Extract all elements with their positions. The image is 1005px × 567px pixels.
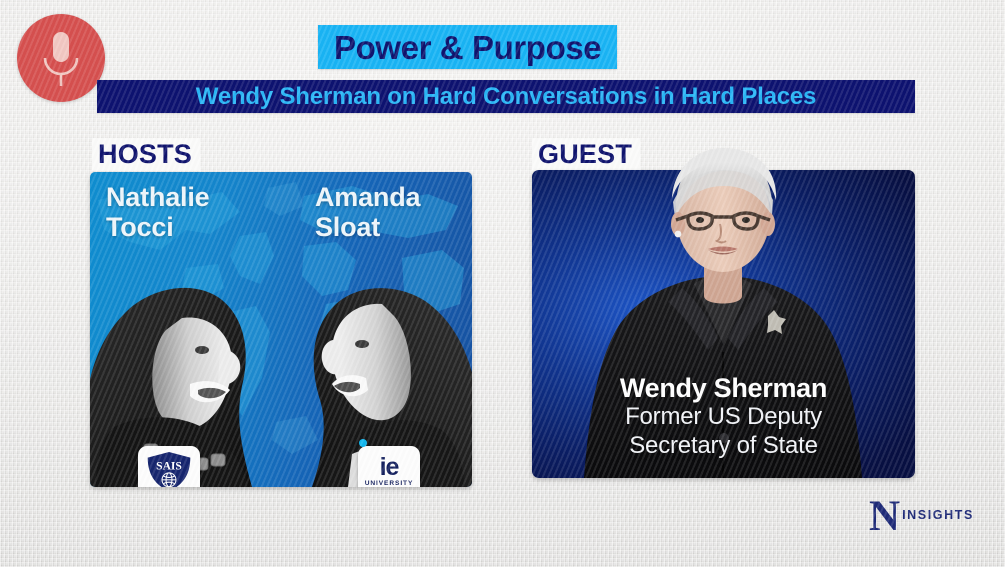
guest-section-label: GUEST (532, 138, 640, 171)
ie-logo-dot (359, 439, 367, 447)
microphone-icon (17, 14, 105, 102)
host-name-nathalie-tocci: Nathalie Tocci (106, 182, 209, 242)
insights-wordmark: INSIGHTS (902, 508, 974, 525)
guest-role-line-1: Former US Deputy (532, 403, 915, 431)
sais-logo-text: SAIS (156, 459, 182, 472)
episode-subtitle: Wendy Sherman on Hard Conversations in H… (196, 85, 816, 109)
guest-caption: Wendy Sherman Former US Deputy Secretary… (532, 373, 915, 460)
sais-shield-logo: SAIS (138, 446, 200, 487)
slide-backdrop: Power & Purpose Wendy Sherman on Hard Co… (0, 0, 1005, 567)
ie-logo-subtext: UNIVERSITY (365, 480, 414, 487)
ie-university-logo: ie UNIVERSITY (358, 446, 420, 487)
episode-subtitle-banner: Wendy Sherman on Hard Conversations in H… (97, 80, 915, 113)
sais-shield-icon: SAIS (144, 450, 194, 488)
episode-title: Power & Purpose (334, 31, 601, 64)
episode-title-banner: Power & Purpose (318, 25, 617, 69)
insights-monogram: N (869, 500, 900, 534)
guest-name: Wendy Sherman (532, 373, 915, 403)
insights-logo: N INSIGHTS (869, 500, 974, 534)
hosts-photo-panel: Nathalie Tocci Amanda Sloat SAIS (90, 172, 472, 487)
guest-role-line-2: Secretary of State (532, 432, 915, 460)
guest-caption-layer: Wendy Sherman Former US Deputy Secretary… (532, 170, 915, 478)
ie-logo-text: ie (380, 456, 399, 479)
podcast-mic-badge (17, 14, 105, 102)
hosts-name-overlay: Nathalie Tocci Amanda Sloat (90, 172, 472, 487)
host-name-amanda-sloat: Amanda Sloat (315, 182, 420, 242)
hosts-section-label: HOSTS (92, 138, 200, 171)
